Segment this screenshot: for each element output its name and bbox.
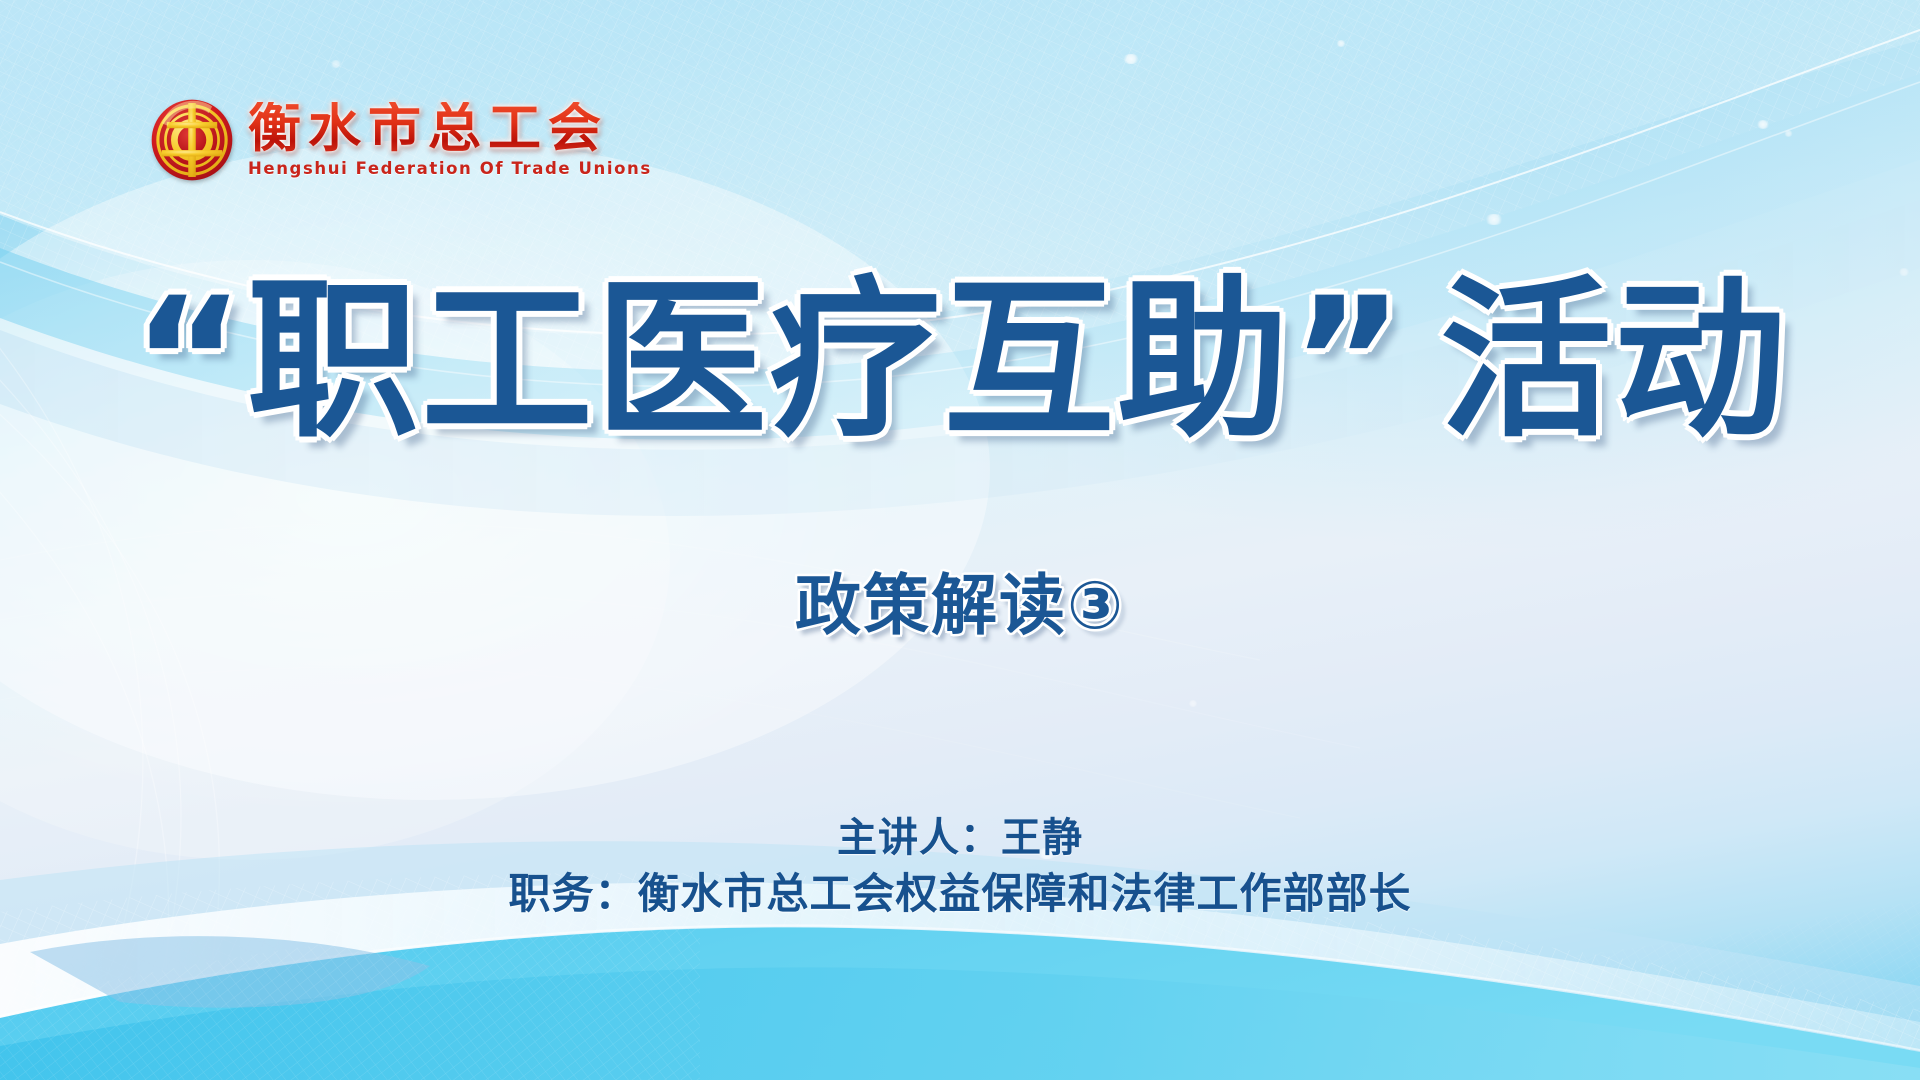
sparkle-dot: [1784, 130, 1793, 137]
logo-chinese-name: 衡水市总工会: [248, 102, 652, 156]
sparkle-dot: [1188, 700, 1198, 707]
page-title: “职工医疗互助”活动: [132, 275, 1788, 447]
title-close-quote: ”: [1291, 260, 1406, 461]
sparkle-dot: [1122, 54, 1140, 64]
sparkle-dot: [330, 60, 342, 68]
presenter-speaker-line: 主讲人：王静: [0, 812, 1920, 866]
title-quoted-text: 职工医疗互助: [247, 260, 1291, 461]
page-subtitle: 政策解读③: [795, 573, 1125, 639]
presenter-role-line: 职务：衡水市总工会权益保障和法律工作部部长: [0, 866, 1920, 922]
title-suffix: 活动: [1440, 260, 1788, 461]
title-block: “职工医疗互助”活动: [0, 275, 1920, 447]
sparkle-dot: [1756, 120, 1770, 129]
logo-english-name: Hengshui Federation Of Trade Unions: [248, 159, 652, 178]
sparkle-dot: [1336, 40, 1346, 47]
title-open-quote: “: [132, 260, 247, 461]
sparkle-dot: [1484, 214, 1504, 225]
organization-logo: 衡水市总工会 Hengshui Federation Of Trade Unio…: [150, 98, 652, 182]
presentation-slide: 衡水市总工会 Hengshui Federation Of Trade Unio…: [0, 0, 1920, 1080]
presenter-block: 主讲人：王静 职务：衡水市总工会权益保障和法律工作部部长: [0, 812, 1920, 922]
union-emblem-svg: [150, 98, 234, 182]
logo-text-block: 衡水市总工会 Hengshui Federation Of Trade Unio…: [248, 102, 652, 178]
subtitle-block: 政策解读③: [0, 573, 1920, 639]
union-emblem-icon: [150, 98, 234, 182]
